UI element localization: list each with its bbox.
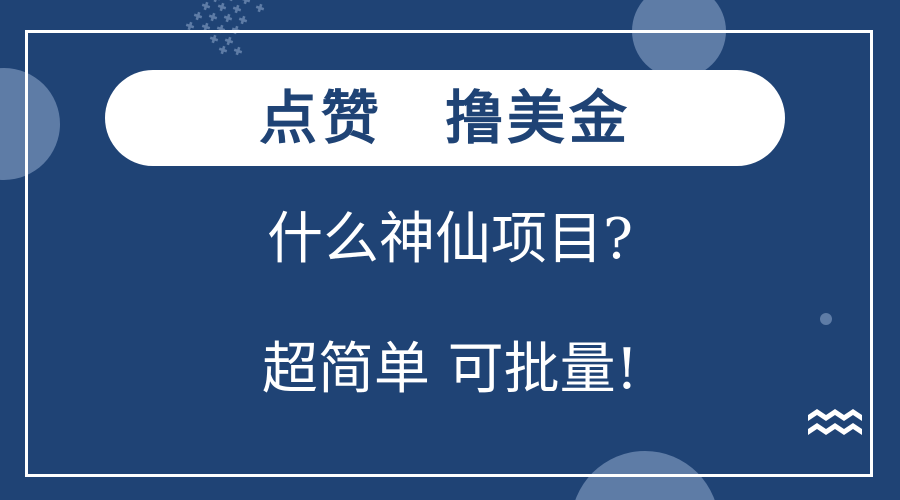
promo-poster: 点赞 撸美金 什么神仙项目? 超简单 可批量! — [0, 0, 900, 500]
double-wave-mark-icon — [808, 408, 864, 438]
headline-text: 点赞 撸美金 — [259, 89, 631, 147]
headline-pill: 点赞 撸美金 — [105, 70, 785, 166]
subheadline-benefit: 超简单 可批量! — [0, 342, 900, 398]
subheadline-question: 什么神仙项目? — [0, 212, 900, 268]
